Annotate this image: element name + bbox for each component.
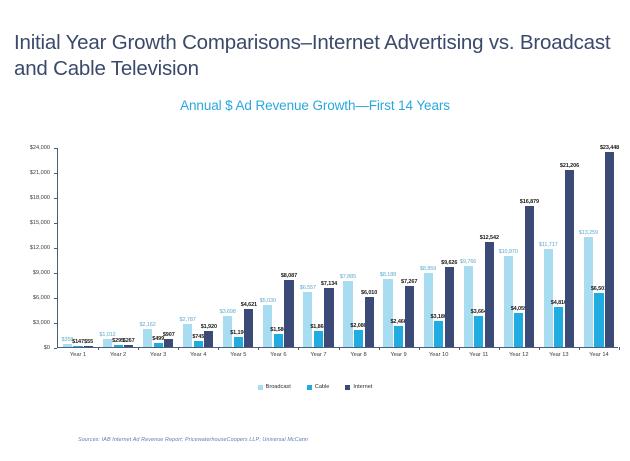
y-axis-tick-label: $24,000: [30, 145, 50, 151]
bar-value-label: $147: [72, 339, 84, 345]
bar-internet[interactable]: $55: [84, 346, 93, 347]
bar-cable[interactable]: $1,580: [274, 334, 283, 347]
bar-cable[interactable]: $6,501: [594, 293, 603, 347]
legend-label: Broadcast: [266, 384, 291, 390]
x-axis-category-label: Year 4: [190, 352, 206, 358]
bar-group: $5,030$1,580$8,087: [258, 148, 298, 347]
bar-value-label: $8,188: [380, 272, 396, 278]
legend-item-broadcast[interactable]: Broadcast: [258, 384, 291, 390]
y-axis-tick-label: $9,000: [33, 270, 50, 276]
bar-value-label: $6,010: [361, 290, 377, 296]
bar-value-label: $7,134: [321, 281, 337, 287]
bar-value-label: $9,626: [441, 260, 457, 266]
bar-internet[interactable]: $21,206: [565, 170, 574, 347]
bar-internet[interactable]: $267: [124, 345, 133, 347]
x-axis-tick: [459, 347, 460, 350]
bar-cable[interactable]: $295: [114, 345, 123, 347]
bar-broadcast[interactable]: $1,012: [103, 339, 112, 347]
bar-chart: $0$3,000$6,000$9,000$12,000$15,000$18,00…: [12, 148, 618, 376]
legend-swatch-icon: [345, 385, 350, 390]
bar-value-label: $267: [123, 338, 135, 344]
bar-group-bars: $13,259$6,501$23,448: [579, 148, 619, 347]
y-axis-tick-label: $0: [44, 345, 50, 351]
bar-value-label: $2,787: [180, 317, 196, 323]
bar-value-label: $21,206: [560, 163, 579, 169]
bar-group-bars: $8,859$3,180$9,626: [419, 148, 459, 347]
chart-subtitle: Annual $ Ad Revenue Growth—First 14 Year…: [0, 98, 630, 113]
bar-group: $8,188$2,466$7,267: [379, 148, 419, 347]
bar-internet[interactable]: $907: [164, 339, 173, 347]
y-axis-tick-label: $21,000: [30, 170, 50, 176]
x-axis-category-label: Year 11: [469, 352, 488, 358]
source-note: Sources: IAB Internet Ad Revenue Report;…: [78, 437, 308, 443]
bar-value-label: $8,859: [420, 266, 436, 272]
bar-group: $13,259$6,501$23,448: [579, 148, 619, 347]
y-axis-tick-label: $6,000: [33, 295, 50, 301]
bar-group: $358$147$55: [58, 148, 98, 347]
bar-broadcast[interactable]: $2,787: [183, 324, 192, 347]
bar-value-label: $6,557: [300, 285, 316, 291]
bar-internet[interactable]: $8,087: [284, 280, 293, 347]
bar-group: $3,698$1,190$4,621: [218, 148, 258, 347]
bar-cable[interactable]: $2,080: [354, 330, 363, 347]
bar-value-label: $13,259: [579, 230, 598, 236]
x-axis-category-label: Year 12: [509, 352, 528, 358]
x-axis-tick: [178, 347, 179, 350]
x-axis-category-label: Year 2: [110, 352, 126, 358]
legend-swatch-icon: [258, 385, 263, 390]
bar-group-bars: $7,885$2,080$6,010: [339, 148, 379, 347]
bar-value-label: $23,448: [600, 145, 619, 151]
bar-cable[interactable]: $4,816: [554, 307, 563, 347]
bar-group: $10,870$4,059$16,879: [499, 148, 539, 347]
bar-cable[interactable]: $147: [73, 346, 82, 347]
x-axis-tick: [258, 347, 259, 350]
bar-value-label: $9,766: [460, 259, 476, 265]
bar-cable[interactable]: $1,863: [314, 331, 323, 347]
y-axis-tick-label: $15,000: [30, 220, 50, 226]
bar-value-label: $3,698: [220, 309, 236, 315]
bar-internet[interactable]: $1,920: [204, 331, 213, 347]
bar-value-label: $10,870: [499, 249, 518, 255]
x-axis-category-label: Year 9: [390, 352, 406, 358]
bar-internet[interactable]: $7,267: [405, 286, 414, 347]
x-axis-tick: [579, 347, 580, 350]
y-axis-tick-label: $3,000: [33, 320, 50, 326]
bar-cable[interactable]: $499: [154, 343, 163, 347]
bar-group: $1,012$295$267: [98, 148, 138, 347]
x-axis-category-label: Year 5: [230, 352, 246, 358]
bar-value-label: $1,920: [201, 324, 217, 330]
y-axis-tick-label: $12,000: [30, 245, 50, 251]
bar-broadcast[interactable]: $8,859: [424, 273, 433, 347]
bar-cable[interactable]: $745: [194, 341, 203, 347]
bar-internet[interactable]: $12,542: [485, 242, 494, 347]
bar-cable[interactable]: $4,059: [514, 313, 523, 347]
x-axis-tick: [218, 347, 219, 350]
bar-cable[interactable]: $2,466: [394, 326, 403, 347]
bar-group-bars: $9,766$3,664$12,542: [459, 148, 499, 347]
plot-inner: $358$147$55$1,012$295$267$2,162$499$907$…: [58, 148, 618, 347]
bar-value-label: $11,717: [539, 242, 558, 248]
bar-group-bars: $10,870$4,059$16,879: [499, 148, 539, 347]
x-axis-tick: [419, 347, 420, 350]
bar-broadcast[interactable]: $9,766: [464, 266, 473, 347]
bar-group: $11,717$4,816$21,206: [539, 148, 579, 347]
x-axis-tick: [339, 347, 340, 350]
bar-cable[interactable]: $3,664: [474, 316, 483, 347]
bar-value-label: $2,162: [139, 322, 155, 328]
bar-internet[interactable]: $16,879: [525, 206, 534, 347]
x-axis-tick: [98, 347, 99, 350]
bar-group: $2,787$745$1,920: [178, 148, 218, 347]
bar-broadcast[interactable]: $358: [63, 344, 72, 347]
x-axis-tick: [619, 347, 620, 350]
y-axis-tick-label: $18,000: [30, 195, 50, 201]
bar-group: $6,557$1,863$7,134: [298, 148, 338, 347]
bar-internet[interactable]: $23,448: [605, 152, 614, 347]
bar-internet[interactable]: $4,621: [244, 309, 253, 348]
bar-group-bars: $6,557$1,863$7,134: [298, 148, 338, 347]
y-axis-tick: [54, 348, 57, 349]
bar-value-label: $8,087: [281, 273, 297, 279]
bar-cable[interactable]: $3,180: [434, 321, 443, 348]
bar-group-bars: $5,030$1,580$8,087: [258, 148, 298, 347]
bar-value-label: $7,267: [401, 279, 417, 285]
y-axis-labels: $0$3,000$6,000$9,000$12,000$15,000$18,00…: [12, 148, 54, 348]
bar-group: $8,859$3,180$9,626: [419, 148, 459, 347]
bar-group: $2,162$499$907: [138, 148, 178, 347]
legend-swatch-icon: [307, 385, 312, 390]
bar-group-bars: $8,188$2,466$7,267: [379, 148, 419, 347]
bar-broadcast[interactable]: $8,188: [383, 279, 392, 347]
legend-item-internet[interactable]: Internet: [345, 384, 372, 390]
x-axis-tick: [539, 347, 540, 350]
slide-canvas: Initial Year Growth Comparisons–Internet…: [0, 0, 630, 461]
bar-value-label: $4,621: [241, 302, 257, 308]
bar-group: $7,885$2,080$6,010: [339, 148, 379, 347]
legend-item-cable[interactable]: Cable: [307, 384, 330, 390]
x-axis-tick: [499, 347, 500, 350]
bar-value-label: $7,885: [340, 274, 356, 280]
bar-value-label: $12,542: [480, 235, 499, 241]
x-axis-tick: [379, 347, 380, 350]
bar-group-bars: $2,787$745$1,920: [178, 148, 218, 347]
bar-broadcast[interactable]: $2,162: [143, 329, 152, 347]
x-axis-category-label: Year 7: [310, 352, 326, 358]
bar-value-label: $55: [84, 339, 93, 345]
bar-group-bars: $3,698$1,190$4,621: [218, 148, 258, 347]
bar-internet[interactable]: $9,626: [445, 267, 454, 347]
bar-value-label: $745: [192, 334, 204, 340]
bar-group-bars: $11,717$4,816$21,206: [539, 148, 579, 347]
x-axis-category-label: Year 10: [429, 352, 448, 358]
bar-group-bars: $2,162$499$907: [138, 148, 178, 347]
chart-legend: BroadcastCableInternet: [0, 384, 630, 390]
bar-broadcast[interactable]: $10,870: [504, 256, 513, 347]
bar-value-label: $16,879: [520, 199, 539, 205]
page-title: Initial Year Growth Comparisons–Internet…: [14, 30, 614, 82]
bar-broadcast[interactable]: $7,885: [343, 281, 352, 347]
bar-internet[interactable]: $7,134: [324, 288, 333, 347]
bar-group-bars: $358$147$55: [58, 148, 98, 347]
legend-label: Cable: [315, 384, 330, 390]
bar-group-bars: $1,012$295$267: [98, 148, 138, 347]
x-axis-category-label: Year 14: [589, 352, 608, 358]
x-axis-category-label: Year 1: [70, 352, 86, 358]
plot-area: $358$147$55$1,012$295$267$2,162$499$907$…: [57, 148, 618, 348]
bar-value-label: $907: [163, 332, 175, 338]
bar-broadcast[interactable]: $11,717: [544, 249, 553, 347]
x-axis-tick: [138, 347, 139, 350]
bar-value-label: $5,030: [260, 298, 276, 304]
bar-broadcast[interactable]: $6,557: [303, 292, 312, 347]
x-axis-category-label: Year 8: [350, 352, 366, 358]
x-axis-tick: [298, 347, 299, 350]
bar-internet[interactable]: $6,010: [365, 297, 374, 347]
x-axis-category-label: Year 6: [270, 352, 286, 358]
x-axis-category-label: Year 3: [150, 352, 166, 358]
legend-label: Internet: [353, 384, 372, 390]
bar-cable[interactable]: $1,190: [234, 337, 243, 347]
bar-group: $9,766$3,664$12,542: [459, 148, 499, 347]
x-axis-category-label: Year 13: [549, 352, 568, 358]
